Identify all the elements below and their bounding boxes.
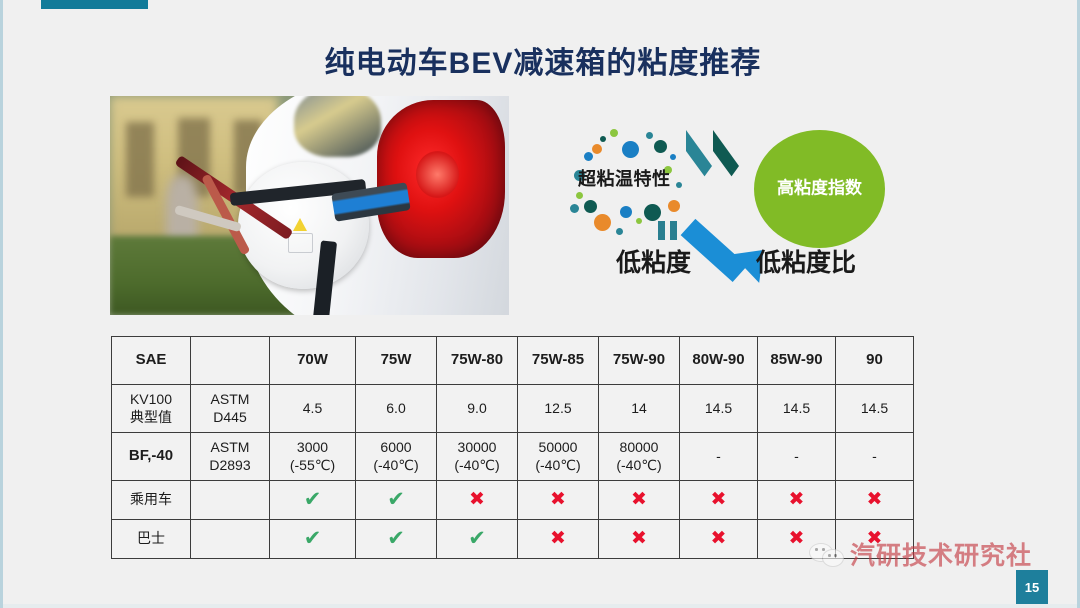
table-row: 乘用车✔✔✖✖✖✖✖✖ [112, 481, 914, 520]
page-number-badge: 15 [1016, 570, 1048, 604]
decor-dot [668, 200, 680, 212]
table-header-cell: 75W-85 [518, 337, 599, 385]
label-low-viscosity: 低粘度 [616, 243, 691, 279]
concept-diagram: 超粘温特性 低粘度 高粘度指数 低粘度比 [558, 108, 908, 308]
cross-mark: ✖ [867, 489, 883, 510]
table-cell: 9.0 [437, 385, 518, 433]
table-cell: 14.5 [836, 385, 914, 433]
table-method-cell [191, 481, 270, 520]
check-mark: ✔ [387, 488, 405, 511]
label-super-viscosity-temperature: 超粘温特性 [578, 165, 671, 191]
table-row-label: 乘用车 [112, 481, 191, 520]
check-icon: ✔ [270, 520, 356, 559]
cross-mark: ✖ [550, 489, 566, 510]
table-header-cell: 75W [356, 337, 437, 385]
decor-dot [670, 154, 676, 160]
cross-mark: ✖ [631, 489, 647, 510]
table-cell: - [836, 433, 914, 481]
ev-charging-photo [110, 96, 509, 315]
table-header-cell: 85W-90 [758, 337, 836, 385]
cross-icon: ✖ [518, 520, 599, 559]
table-cell: 14.5 [680, 385, 758, 433]
table-cell: 6000(-40℃) [356, 433, 437, 481]
cross-icon: ✖ [758, 481, 836, 520]
cross-mark: ✖ [789, 489, 805, 510]
warning-triangle-icon [293, 218, 307, 231]
check-icon: ✔ [356, 520, 437, 559]
table-row: BF,-40ASTMD28933000(-55℃)6000(-40℃)30000… [112, 433, 914, 481]
table-header-cell: 80W-90 [680, 337, 758, 385]
cross-mark: ✖ [789, 528, 805, 549]
table-cell: 12.5 [518, 385, 599, 433]
table-cell: 50000(-40℃) [518, 433, 599, 481]
check-mark: ✔ [304, 488, 322, 511]
decor-dot [616, 228, 623, 235]
table-cell: 80000(-40℃) [599, 433, 680, 481]
wechat-icon [809, 541, 845, 567]
equals-symbol-icon [658, 221, 680, 240]
watermark: 汽研技术研究社 [809, 536, 1032, 572]
cross-icon: ✖ [437, 481, 518, 520]
bottom-strip [3, 604, 1080, 608]
cross-mark: ✖ [711, 528, 727, 549]
table-row-label: BF,-40 [112, 433, 191, 481]
table-cell: 14 [599, 385, 680, 433]
viscosity-spec-table: SAE 70W 75W 75W-80 75W-85 75W-90 80W-90 … [111, 336, 914, 559]
table-row: 巴士✔✔✔✖✖✖✖✖ [112, 520, 914, 559]
table-cell: 30000(-40℃) [437, 433, 518, 481]
table-body: KV100典型值ASTMD4454.56.09.012.51414.514.51… [112, 385, 914, 559]
table-header-cell: 75W-80 [437, 337, 518, 385]
cross-mark: ✖ [631, 528, 647, 549]
watermark-text: 汽研技术研究社 [850, 536, 1032, 572]
decor-dot [592, 144, 602, 154]
table-row: KV100典型值ASTMD4454.56.09.012.51414.514.51… [112, 385, 914, 433]
cross-icon: ✖ [599, 520, 680, 559]
table-header-cell: 75W-90 [599, 337, 680, 385]
check-icon: ✔ [356, 481, 437, 520]
photo-building-window [126, 122, 154, 196]
cross-icon: ✖ [680, 520, 758, 559]
decor-dot [576, 192, 583, 199]
page-title: 纯电动车BEV减速箱的粘度推荐 [3, 38, 1080, 82]
cross-icon: ✖ [836, 481, 914, 520]
decor-dot [622, 141, 639, 158]
high-viscosity-index-label: 高粘度指数 [754, 177, 885, 202]
check-mark: ✔ [387, 527, 405, 550]
decor-dot [620, 206, 632, 218]
decor-dot [646, 132, 653, 139]
chevron-right-icon-notch [686, 151, 705, 203]
label-low-viscosity-ratio: 低粘度比 [756, 243, 856, 279]
table-header-row: SAE 70W 75W 75W-80 75W-85 75W-90 80W-90 … [112, 337, 914, 385]
table-header-cell: 70W [270, 337, 356, 385]
cross-mark: ✖ [469, 489, 485, 510]
decor-dot [584, 200, 597, 213]
decor-dot [594, 214, 611, 231]
chevron-right-icon-notch [713, 151, 732, 203]
check-mark: ✔ [304, 527, 322, 550]
accent-bar [41, 0, 148, 9]
table-cell: - [680, 433, 758, 481]
check-mark: ✔ [468, 527, 486, 550]
table-cell: 14.5 [758, 385, 836, 433]
decor-dot [584, 152, 593, 161]
table-method-cell: ASTMD2893 [191, 433, 270, 481]
decor-dot [644, 204, 661, 221]
table-method-cell [191, 520, 270, 559]
slide-canvas: 纯电动车BEV减速箱的粘度推荐 [0, 0, 1080, 608]
high-viscosity-index-badge: 高粘度指数 [754, 130, 885, 248]
table-method-cell: ASTMD445 [191, 385, 270, 433]
cross-mark: ✖ [550, 528, 566, 549]
decor-dot [610, 129, 618, 137]
decor-dot [600, 136, 606, 142]
decor-dot [636, 218, 642, 224]
decor-dot [676, 182, 682, 188]
table-row-label: KV100典型值 [112, 385, 191, 433]
cross-icon: ✖ [518, 481, 599, 520]
photo-port-hatch [288, 233, 314, 253]
photo-side-mirror [294, 96, 382, 157]
table-header-cell [191, 337, 270, 385]
check-icon: ✔ [437, 520, 518, 559]
decor-dot [654, 140, 667, 153]
cross-icon: ✖ [680, 481, 758, 520]
table-header-cell: SAE [112, 337, 191, 385]
decor-dot [570, 204, 579, 213]
table-row-label: 巴士 [112, 520, 191, 559]
table-cell: 4.5 [270, 385, 356, 433]
table-cell: 6.0 [356, 385, 437, 433]
cross-mark: ✖ [711, 489, 727, 510]
table-cell: 3000(-55℃) [270, 433, 356, 481]
check-icon: ✔ [270, 481, 356, 520]
cross-icon: ✖ [599, 481, 680, 520]
table-cell: - [758, 433, 836, 481]
photo-taillight [377, 100, 505, 258]
table-header-cell: 90 [836, 337, 914, 385]
